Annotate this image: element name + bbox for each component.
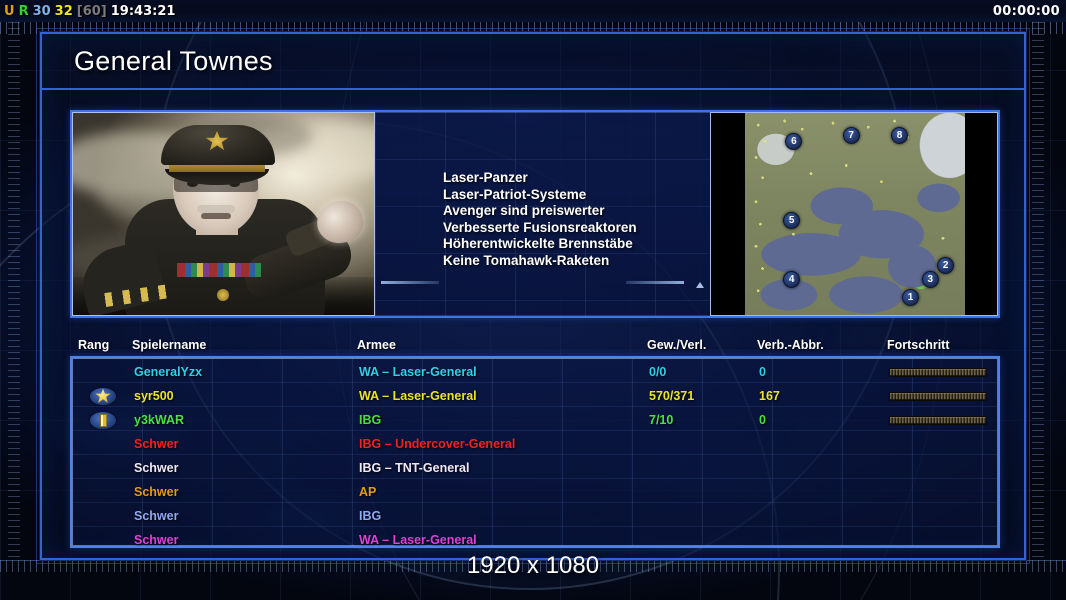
cell-disconnects: 0 bbox=[759, 365, 889, 379]
scroll-up-arrow-icon[interactable] bbox=[696, 282, 704, 288]
minimap-start-position-1[interactable]: 1 bbox=[902, 289, 919, 306]
bonus-item: Laser-Patriot-Systeme bbox=[443, 187, 637, 204]
cell-player-name: Schwer bbox=[134, 509, 359, 523]
cell-player-name: Schwer bbox=[134, 461, 359, 475]
bonus-item: Keine Tomahawk-Raketen bbox=[443, 253, 637, 270]
ruler-strip-right bbox=[1032, 22, 1044, 560]
cell-player-name: Schwer bbox=[134, 485, 359, 499]
top-hud-bar: UR 30 32 [60] 19:43:21 00:00:00 bbox=[0, 0, 1066, 22]
minimap[interactable]: 67854231 bbox=[710, 112, 998, 316]
cell-progress bbox=[889, 416, 998, 425]
column-header-winloss: Gew./Verl. bbox=[647, 338, 757, 352]
hud-fps-value: 30 bbox=[33, 4, 51, 19]
minimap-position-label: 3 bbox=[928, 274, 934, 285]
column-header-army: Armee bbox=[357, 338, 647, 352]
title-bar: General Townes bbox=[42, 34, 1024, 90]
minimap-position-label: 8 bbox=[897, 130, 903, 141]
progress-bar bbox=[889, 392, 987, 401]
cell-army: AP bbox=[359, 485, 649, 499]
general-bonus-list: Laser-Panzer Laser-Patriot-Systeme Aveng… bbox=[443, 170, 637, 270]
minimap-start-position-3[interactable]: 3 bbox=[922, 271, 939, 288]
column-header-disconnects: Verb.-Abbr. bbox=[757, 338, 887, 352]
cell-army: IBG bbox=[359, 413, 649, 427]
hud-bracket-value: [60] bbox=[77, 4, 107, 19]
resolution-label: 1920 x 1080 bbox=[0, 552, 1066, 580]
general-info-panel: Laser-Panzer Laser-Patriot-Systeme Aveng… bbox=[70, 110, 1000, 318]
minimap-start-position-7[interactable]: 7 bbox=[843, 127, 860, 144]
divider-left bbox=[381, 281, 439, 284]
cell-army: IBG – Undercover-General bbox=[359, 437, 649, 451]
table-row[interactable]: SchwerAP bbox=[72, 480, 998, 504]
hud-ping-value: 32 bbox=[55, 4, 73, 19]
cell-disconnects: 167 bbox=[759, 389, 889, 403]
table-row[interactable]: SchwerIBG – Undercover-General bbox=[72, 432, 998, 456]
table-row[interactable]: syr500WA – Laser-General570/371167 bbox=[72, 384, 998, 408]
minimap-position-label: 5 bbox=[789, 215, 795, 226]
bonus-item: Avenger sind preiswerter bbox=[443, 203, 637, 220]
minimap-position-label: 1 bbox=[908, 292, 914, 303]
hud-label-u: U bbox=[4, 4, 15, 19]
table-row[interactable]: y3kWARIBG7/100 bbox=[72, 408, 998, 432]
column-header-progress: Fortschritt bbox=[887, 338, 1000, 352]
minimap-position-label: 7 bbox=[848, 130, 854, 141]
hud-clock: 19:43:21 bbox=[111, 4, 176, 19]
cell-army: IBG bbox=[359, 509, 649, 523]
portrait-moustache bbox=[197, 205, 235, 213]
minimap-start-position-4[interactable]: 4 bbox=[783, 271, 800, 288]
portrait-mouth bbox=[201, 213, 231, 219]
bonus-item: Verbesserte Fusionsreaktoren bbox=[443, 220, 637, 237]
progress-bar bbox=[889, 368, 987, 377]
portrait-ribbon-bar bbox=[177, 263, 261, 277]
minimap-position-label: 6 bbox=[791, 136, 797, 147]
cell-army: WA – Laser-General bbox=[359, 389, 649, 403]
table-row[interactable]: SchwerIBG – TNT-General bbox=[72, 456, 998, 480]
cell-army: WA – Laser-General bbox=[359, 365, 649, 379]
rank-star-icon bbox=[90, 388, 116, 405]
cell-winloss: 7/10 bbox=[649, 413, 759, 427]
table-row[interactable]: SchwerIBG bbox=[72, 504, 998, 528]
minimap-position-label: 2 bbox=[943, 260, 949, 271]
bonus-item: Laser-Panzer bbox=[443, 170, 637, 187]
general-portrait bbox=[72, 112, 375, 316]
rank-bar-icon bbox=[90, 412, 116, 429]
divider-right bbox=[626, 281, 684, 284]
minimap-position-label: 4 bbox=[789, 274, 795, 285]
hud-timer: 00:00:00 bbox=[993, 4, 1066, 19]
general-bonus-panel: Laser-Panzer Laser-Patriot-Systeme Aveng… bbox=[375, 112, 710, 316]
main-panel-frame: General Townes bbox=[40, 32, 1026, 560]
cell-player-name: Schwer bbox=[134, 437, 359, 451]
cell-progress bbox=[889, 368, 998, 377]
bonus-item: Höherentwickelte Brennstäbe bbox=[443, 236, 637, 253]
page-title: General Townes bbox=[74, 46, 273, 77]
progress-bar bbox=[889, 416, 987, 425]
minimap-canvas: 67854231 bbox=[745, 113, 965, 315]
hud-stats-group: UR 30 32 [60] 19:43:21 bbox=[0, 4, 175, 19]
table-row[interactable]: GeneralYzxWA – Laser-General0/00 bbox=[72, 360, 998, 384]
cell-winloss: 0/0 bbox=[649, 365, 759, 379]
cell-rank bbox=[72, 412, 134, 429]
cell-army: IBG – TNT-General bbox=[359, 461, 649, 475]
cell-player-name: syr500 bbox=[134, 389, 359, 403]
cell-disconnects: 0 bbox=[759, 413, 889, 427]
hud-label-r: R bbox=[19, 4, 29, 19]
player-table-body: GeneralYzxWA – Laser-General0/00syr500WA… bbox=[72, 358, 998, 548]
minimap-start-position-2[interactable]: 2 bbox=[937, 257, 954, 274]
cell-rank bbox=[72, 388, 134, 405]
cell-winloss: 570/371 bbox=[649, 389, 759, 403]
cell-player-name: y3kWAR bbox=[134, 413, 359, 427]
player-table-header: Rang Spielername Armee Gew./Verl. Verb.-… bbox=[70, 334, 1000, 356]
player-table: GeneralYzxWA – Laser-General0/00syr500WA… bbox=[70, 356, 1000, 548]
column-header-rank: Rang bbox=[70, 338, 132, 352]
game-screen: UR 30 32 [60] 19:43:21 00:00:00 General … bbox=[0, 0, 1066, 600]
portrait-uniform-button bbox=[217, 289, 229, 301]
column-header-player: Spielername bbox=[132, 338, 357, 352]
cell-player-name: Schwer bbox=[134, 533, 359, 547]
cell-player-name: GeneralYzx bbox=[134, 365, 359, 379]
cell-army: WA – Laser-General bbox=[359, 533, 649, 547]
cell-progress bbox=[889, 392, 998, 401]
table-row[interactable]: SchwerWA – Laser-General bbox=[72, 528, 998, 548]
ruler-strip-left bbox=[8, 22, 20, 560]
